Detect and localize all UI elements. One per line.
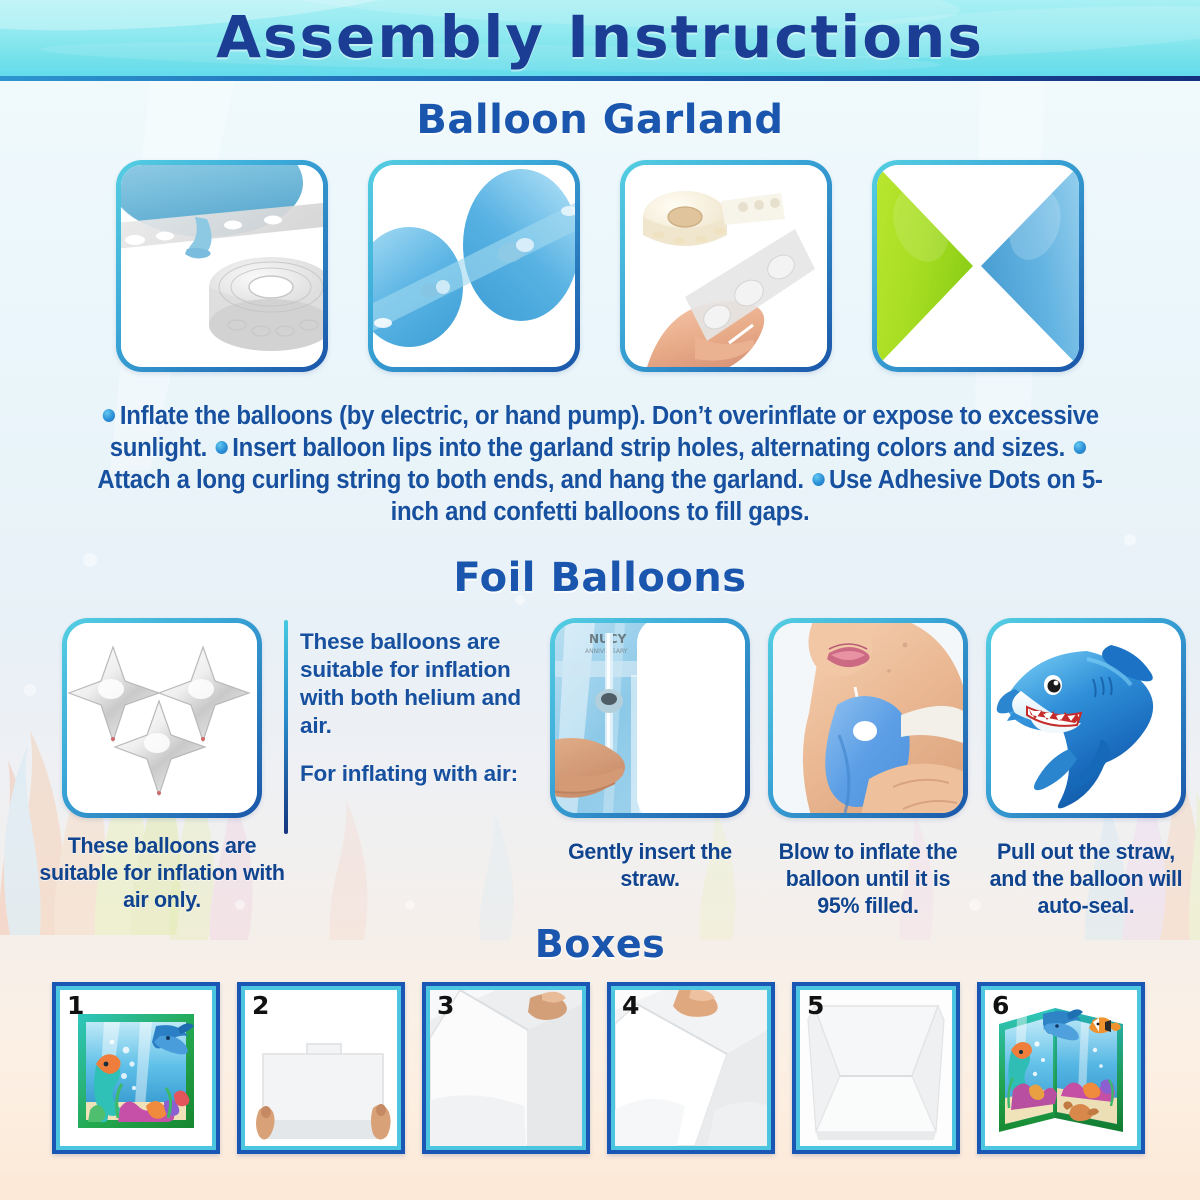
box-step-panel: 1 [52,982,220,1154]
section-heading-foil-balloons: Foil Balloons [0,555,1200,601]
box-step-panel: 6 [977,982,1145,1154]
blow-to-inflate-photo [768,618,968,818]
caption-blow-to-inflate: Blow to inflate the balloon until it is … [765,838,970,919]
bullet-dot-icon [215,441,227,454]
bullet-dot-icon [1073,441,1085,454]
foil-section-divider [284,620,288,834]
box-step-number: 1 [67,991,84,1021]
section-heading-balloon-garland: Balloon Garland [0,97,1200,143]
foil-note-for-inflating-with-air: For inflating with air: [300,760,532,788]
caption-pull-out-straw: Pull out the straw, and the balloon will… [983,838,1188,919]
box-step-number: 5 [807,991,824,1021]
box-step-panel: 4 [607,982,775,1154]
instruction-sheet: Assembly Instructions Balloon Garland [0,0,1200,1200]
green-and-blue-balloons-photo [872,160,1084,372]
silver-star-balloons-photo [62,618,262,818]
box-step-panel: 2 [237,982,405,1154]
adhesive-dots-roll-photo [620,160,832,372]
garland-instruction-3: Attach a long curling string to both end… [97,466,803,494]
box-step-number: 3 [437,991,454,1021]
box-step-panel: 5 [792,982,960,1154]
box-step-panel: 3 [422,982,590,1154]
garland-instructions-paragraph: Inflate the balloons (by electric, or ha… [81,400,1119,528]
header-divider-rule [0,76,1200,81]
box-step-number: 2 [252,991,269,1021]
section-heading-boxes: Boxes [0,922,1200,966]
caption-star-balloons: These balloons are suitable for inflatio… [29,832,295,913]
box-step-number: 6 [992,991,1009,1021]
caption-insert-straw: Gently insert the straw. [551,838,749,892]
garland-instruction-2: Insert balloon lips into the garland str… [232,434,1065,462]
bullet-dot-icon [103,409,115,422]
foil-note-helium-and-air: These balloons are suitable for inflatio… [300,628,532,740]
shark-balloon-photo [986,618,1186,818]
balloon-lips-in-strip-holes-photo [368,160,580,372]
page-title: Assembly Instructions [0,2,1200,72]
box-step-number: 4 [622,991,639,1021]
insert-straw-photo: NUCY ANNIVERSARY [550,618,750,818]
balloon-tied-to-garland-strip-photo [116,160,328,372]
bullet-dot-icon [812,473,824,486]
